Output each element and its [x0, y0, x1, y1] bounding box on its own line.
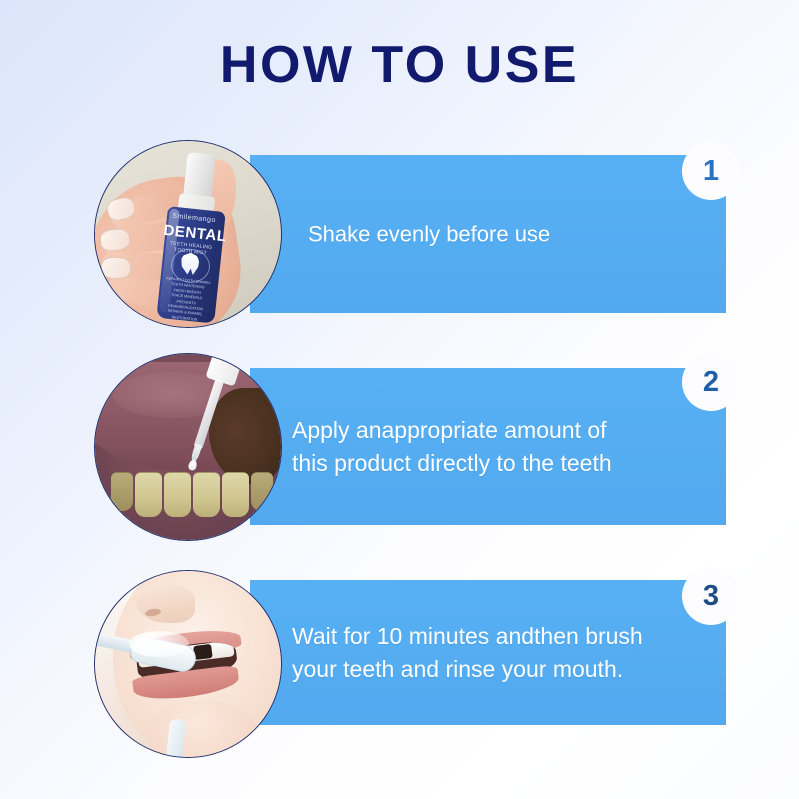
person-brushing-teeth-image: [95, 571, 281, 757]
page-title: HOW TO USE: [0, 34, 799, 96]
nose-shape: [137, 585, 195, 623]
step-2-panel: Apply anappropriate amount of this produ…: [250, 368, 726, 525]
tooth-shape: [111, 472, 133, 511]
step-3-number-badge: 3: [682, 567, 740, 625]
step-3-panel: Wait for 10 minutes andthen brush your t…: [250, 580, 726, 725]
bottle-bullets-text: REPAIRS TOOTH ENAMEL TEETH WHITENING FRE…: [160, 276, 212, 324]
how-to-use-infographic: HOW TO USE Shake evenly before use 1: [0, 0, 799, 799]
step-1-number-badge: 1: [682, 142, 740, 200]
step-1-photo: Smilemango DENTAL TEETH HEALING TOOTH MI…: [94, 140, 282, 328]
step-1-text: Shake evenly before use: [308, 218, 718, 251]
step-3-text: Wait for 10 minutes andthen brush your t…: [292, 620, 702, 686]
step-1-panel: Shake evenly before use: [250, 155, 726, 313]
step-2-number-badge: 2: [682, 353, 740, 411]
tooth-shape: [251, 472, 273, 511]
tooth-shape: [135, 472, 162, 517]
step-2-text: Apply anappropriate amount of this produ…: [292, 414, 702, 480]
step-3-photo: [94, 570, 282, 758]
dropper-applying-product-to-teeth-image: [95, 354, 281, 540]
tooth-shape: [222, 472, 249, 517]
chin-shape: [147, 701, 257, 757]
step-2-photo: [94, 353, 282, 541]
liquid-drop-icon: [187, 459, 198, 472]
fingernail-shape: [101, 256, 132, 279]
hand-holding-dental-spray-bottle-image: Smilemango DENTAL TEETH HEALING TOOTH MI…: [95, 141, 281, 327]
lower-teeth-row: [95, 472, 281, 534]
toothpaste-foam-shape: [129, 631, 189, 657]
